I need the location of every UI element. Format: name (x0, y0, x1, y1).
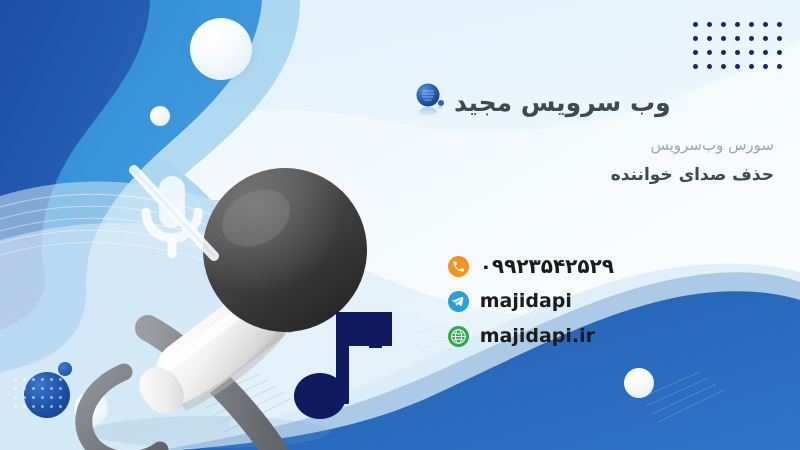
dot-grid-icon (693, 22, 782, 69)
globe-icon (448, 326, 469, 347)
blue-sphere-logo-icon (414, 82, 444, 124)
background-waves (0, 0, 800, 450)
3d-microphone-icon (60, 150, 430, 450)
contact-list: ۰۹۹۲۳۵۴۲۵۲۹ majidapi (448, 253, 614, 349)
promo-banner: وب سرویس مجید سورس وب‌سرویس حذف صدای خوا… (0, 0, 800, 450)
brand-subtitle: سورس وب‌سرویس (414, 135, 774, 156)
contact-value-website: majidapi.ir (480, 327, 595, 346)
dot-grid-icon (14, 378, 62, 408)
contact-value-telegram: majidapi (480, 292, 572, 311)
phone-icon (448, 256, 469, 277)
page-title: وب سرویس مجید (454, 87, 671, 118)
telegram-icon (448, 291, 469, 312)
white-sphere-top (190, 18, 252, 80)
contact-row-website[interactable]: majidapi.ir (448, 323, 614, 349)
mic-off-icon (118, 160, 226, 272)
brand-tagline: حذف صدای خواننده (414, 164, 774, 188)
music-note-icon (292, 308, 392, 420)
brand-content: وب سرویس مجید سورس وب‌سرویس حذف صدای خوا… (414, 82, 774, 188)
brand-title-row: وب سرویس مجید (414, 82, 774, 124)
navy-sphere-large (24, 372, 70, 418)
contact-row-telegram[interactable]: majidapi (448, 288, 614, 314)
contact-value-phone: ۰۹۹۲۳۵۴۲۵۲۹ (480, 256, 614, 276)
white-sphere-bottom-left (74, 392, 108, 426)
navy-sphere-small (58, 362, 72, 376)
contact-row-phone[interactable]: ۰۹۹۲۳۵۴۲۵۲۹ (448, 253, 614, 279)
white-sphere-bottom-right (624, 368, 654, 398)
white-sphere-small (150, 106, 170, 126)
